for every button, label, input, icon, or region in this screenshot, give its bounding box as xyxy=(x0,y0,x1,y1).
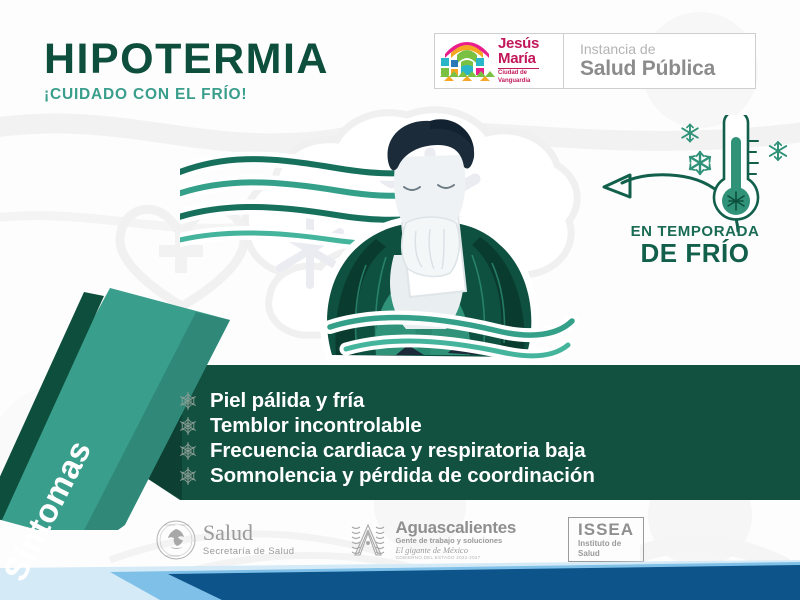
footer-logo-bar: ESTADOSUNIDOS MEXICANOS Salud Secretaría… xyxy=(0,512,800,567)
snowflake-bullet-icon xyxy=(178,391,198,411)
list-item: Somnolencia y pérdida de coordinación xyxy=(178,463,595,488)
symptom-label: Piel pálida y fría xyxy=(210,389,364,413)
symptoms-list: Piel pálida y fría Temblo xyxy=(178,388,595,488)
title-block: HIPOTERMIA ¡CUIDADO CON EL FRÍO! xyxy=(44,38,329,104)
list-item: Frecuencia cardiaca y respiratoria baja xyxy=(178,438,595,463)
cold-season-callout: EN TEMPORADA DE FRÍO xyxy=(600,115,800,290)
city-tagline-line2: Vanguardia xyxy=(498,78,539,84)
jesus-maria-arch-logo-icon xyxy=(439,40,495,82)
mexican-eagle-seal-icon: ESTADOSUNIDOS MEXICANOS xyxy=(156,520,196,560)
page-title: HIPOTERMIA xyxy=(44,38,329,81)
poster-canvas: HIPOTERMIA ¡CUIDADO CON EL FRÍO! xyxy=(0,0,800,600)
salud-subtitle: Secretaría de Salud xyxy=(203,546,295,557)
header-logo-bar: Jesús María Ciudad de Vanguardia Instanc… xyxy=(434,33,756,89)
symptom-label: Somnolencia y pérdida de coordinación xyxy=(210,464,595,488)
list-item: Temblor incontrolable xyxy=(178,413,595,438)
department-line1: Instancia de xyxy=(580,42,755,57)
svg-text:ESTADOS: ESTADOS xyxy=(164,524,176,527)
city-logo-text: Jesús María Ciudad de Vanguardia xyxy=(498,37,539,84)
page-subtitle: ¡CUIDADO CON EL FRÍO! xyxy=(44,86,329,104)
city-tagline-line1: Ciudad de xyxy=(498,68,539,76)
snowflake-bullet-icon xyxy=(178,416,198,436)
cold-season-text: EN TEMPORADA DE FRÍO xyxy=(600,223,790,267)
aguascalientes-logo-text: Aguascalientes Gente de trabajo y soluci… xyxy=(396,519,517,561)
arrow-head-icon xyxy=(604,175,630,197)
thermometer-cold-icon xyxy=(714,115,758,219)
city-logo: Jesús María Ciudad de Vanguardia xyxy=(434,33,564,89)
list-item: Piel pálida y fría xyxy=(178,388,595,413)
bottom-stripe xyxy=(0,560,800,600)
salud-name: Salud xyxy=(203,522,295,544)
issea-name: ISSEA xyxy=(578,521,634,538)
department-line2: Salud Pública xyxy=(580,57,755,80)
snowflake-bullet-icon xyxy=(178,466,198,486)
svg-text:MEXICANOS: MEXICANOS xyxy=(165,555,180,558)
issea-subtitle-line2: Salud xyxy=(578,549,600,558)
aguascalientes-name: Aguascalientes xyxy=(396,519,517,536)
aguascalientes-tagline: Gente de trabajo y soluciones xyxy=(396,536,517,546)
salud-logo-text: Salud Secretaría de Salud xyxy=(203,522,295,557)
department-logo: Instancia de Salud Pública xyxy=(564,33,756,89)
cold-season-line2: DE FRÍO xyxy=(600,240,790,267)
salud-logo: ESTADOSUNIDOS MEXICANOS Salud Secretaría… xyxy=(156,520,295,560)
poster-header: HIPOTERMIA ¡CUIDADO CON EL FRÍO! xyxy=(0,0,800,110)
aguascalientes-a-logo-icon xyxy=(347,521,389,559)
aguascalientes-slogan: El gigante de México xyxy=(396,545,517,555)
city-name-line2: María xyxy=(498,52,539,66)
issea-logo: ISSEA Instituto de Salud xyxy=(568,517,644,562)
symptoms-section: Síntomas Piel pálida y frí xyxy=(0,270,800,530)
issea-subtitle-line1: Instituto de xyxy=(578,539,621,548)
svg-text:UNIDOS: UNIDOS xyxy=(180,524,190,527)
aguascalientes-logo: Aguascalientes Gente de trabajo y soluci… xyxy=(347,519,517,561)
symptom-label: Frecuencia cardiaca y respiratoria baja xyxy=(210,439,586,463)
snowflake-bullet-icon xyxy=(178,441,198,461)
symptom-label: Temblor incontrolable xyxy=(210,414,422,438)
